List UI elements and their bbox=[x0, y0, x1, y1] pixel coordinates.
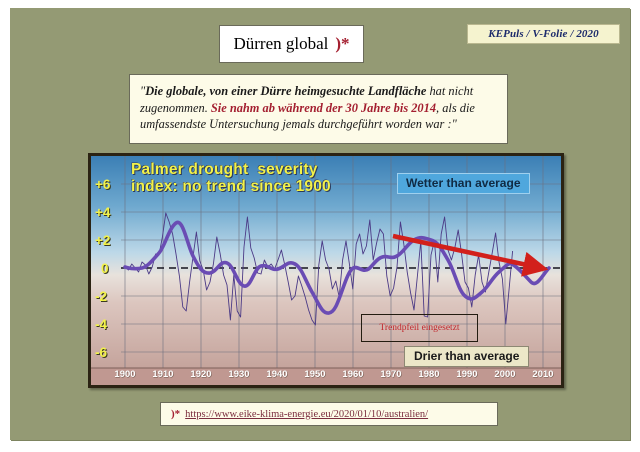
wetter-than-average-label: Wetter than average bbox=[397, 173, 530, 194]
source-box: )* https://www.eike-klima-energie.eu/202… bbox=[160, 402, 498, 426]
y-tick-plus4: +4 bbox=[95, 205, 125, 220]
x-tick-1970: 1970 bbox=[380, 369, 401, 380]
y-tick-minus2: -2 bbox=[95, 289, 125, 304]
x-tick-1960: 1960 bbox=[342, 369, 363, 380]
chart-figure: Palmer drought severityindex: no trend s… bbox=[88, 153, 564, 388]
title-footnote-marker: )* bbox=[328, 34, 349, 54]
quote-part1: Die globale, von einer Dürre heimgesucht… bbox=[145, 84, 426, 98]
y-tick-minus4: -4 bbox=[95, 317, 125, 332]
source-footnote-marker: )* bbox=[171, 408, 185, 420]
x-tick-1910: 1910 bbox=[152, 369, 173, 380]
y-tick-plus2: +2 bbox=[95, 233, 125, 248]
slide-canvas: KEPuls / V-Folie / 2020 Dürren global )*… bbox=[10, 8, 630, 440]
y-tick-plus6: +6 bbox=[95, 177, 125, 192]
y-tick-zero: 0 bbox=[101, 261, 131, 276]
quote-text: "Die globale, von einer Dürre heimgesuch… bbox=[140, 83, 497, 133]
trend-arrow-note: Trendpfeil eingesetzt bbox=[361, 314, 478, 342]
drier-than-average-label: Drier than average bbox=[404, 346, 529, 367]
chart-inner: Palmer drought severityindex: no trend s… bbox=[91, 156, 561, 385]
chart-title-line2: index: no trend since 1900 bbox=[131, 178, 331, 195]
header-badge: KEPuls / V-Folie / 2020 bbox=[467, 24, 620, 44]
x-tick-2010: 2010 bbox=[532, 369, 553, 380]
x-tick-1990: 1990 bbox=[456, 369, 477, 380]
y-tick-minus6: -6 bbox=[95, 345, 125, 360]
page-title: Dürren global bbox=[233, 34, 328, 54]
x-tick-1980: 1980 bbox=[418, 369, 439, 380]
quote-part3-emphasis: Sie nahm ab während der 30 Jahre bis 201… bbox=[211, 101, 436, 115]
x-tick-1930: 1930 bbox=[228, 369, 249, 380]
x-tick-1920: 1920 bbox=[190, 369, 211, 380]
chart-title: Palmer drought severityindex: no trend s… bbox=[131, 161, 331, 195]
quote-box: "Die globale, von einer Dürre heimgesuch… bbox=[129, 74, 508, 144]
source-link[interactable]: https://www.eike-klima-energie.eu/2020/0… bbox=[185, 409, 428, 420]
x-tick-1940: 1940 bbox=[266, 369, 287, 380]
page-title-box: Dürren global )* bbox=[219, 25, 364, 63]
chart-title-line1: Palmer drought severity bbox=[131, 161, 318, 178]
x-tick-1900: 1900 bbox=[114, 369, 135, 380]
x-tick-1950: 1950 bbox=[304, 369, 325, 380]
x-tick-2000: 2000 bbox=[494, 369, 515, 380]
